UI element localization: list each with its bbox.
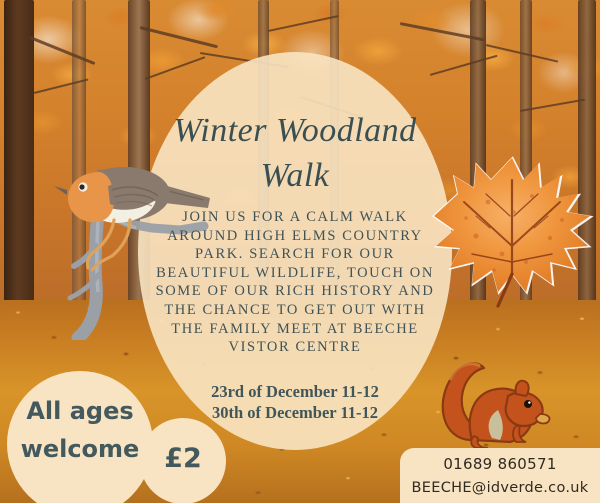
tree-trunk	[4, 0, 34, 340]
all-ages-badge-label: All ages welcome	[10, 392, 150, 468]
event-date-item: 23rd of December 11-12	[150, 381, 440, 402]
squirrel	[436, 352, 552, 454]
poster: All ages welcome £2 Winter Woodland Walk…	[0, 0, 600, 503]
contact-details: 01689 860571 BEECHE@idverde.co.uk	[400, 452, 600, 500]
contact-email[interactable]: BEECHE@idverde.co.uk	[400, 476, 600, 500]
poster-title: Winter Woodland Walk	[138, 108, 452, 198]
poster-body-text: JOIN US FOR A CALM WALK AROUND HIGH ELMS…	[150, 208, 440, 357]
event-dates: 23rd of December 11-12 30th of December …	[150, 381, 440, 423]
event-date-item: 30th of December 11-12	[150, 402, 440, 423]
maple-leaf	[428, 150, 596, 310]
price-badge-label: £2	[140, 443, 226, 474]
contact-phone[interactable]: 01689 860571	[400, 452, 600, 476]
